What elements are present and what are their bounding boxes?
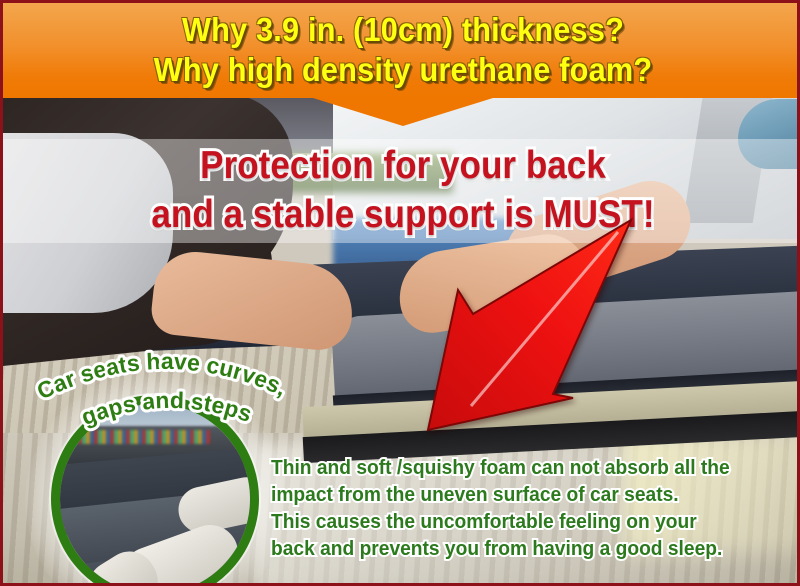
curved-caption: Car seats have curves, gaps and steps: [17, 333, 307, 443]
body-copy-line-0: Thin and soft /squishy foam can not abso…: [271, 455, 770, 482]
banner-heading: Why 3.9 in. (10cm) thickness? Why high d…: [31, 10, 775, 90]
banner-heading-line1: Why 3.9 in. (10cm) thickness?: [31, 10, 775, 50]
body-copy-line-3: back and prevents you from having a good…: [271, 536, 770, 563]
body-copy-line-1: impact from the uneven surface of car se…: [271, 482, 770, 509]
banner-pointer-triangle: [313, 98, 493, 126]
body-copy-line-2: This causes the uncomfortable feeling on…: [271, 509, 770, 536]
down-left-arrow-icon: [403, 218, 633, 433]
body-copy: Thin and soft /squishy foam can not abso…: [271, 455, 770, 563]
banner-heading-line2: Why high density urethane foam?: [31, 50, 775, 90]
advertisement-banner: Why 3.9 in. (10cm) thickness? Why high d…: [0, 0, 800, 586]
main-headline-line1: Protection for your back: [43, 141, 763, 190]
curved-caption-line2: gaps and steps: [78, 387, 256, 430]
